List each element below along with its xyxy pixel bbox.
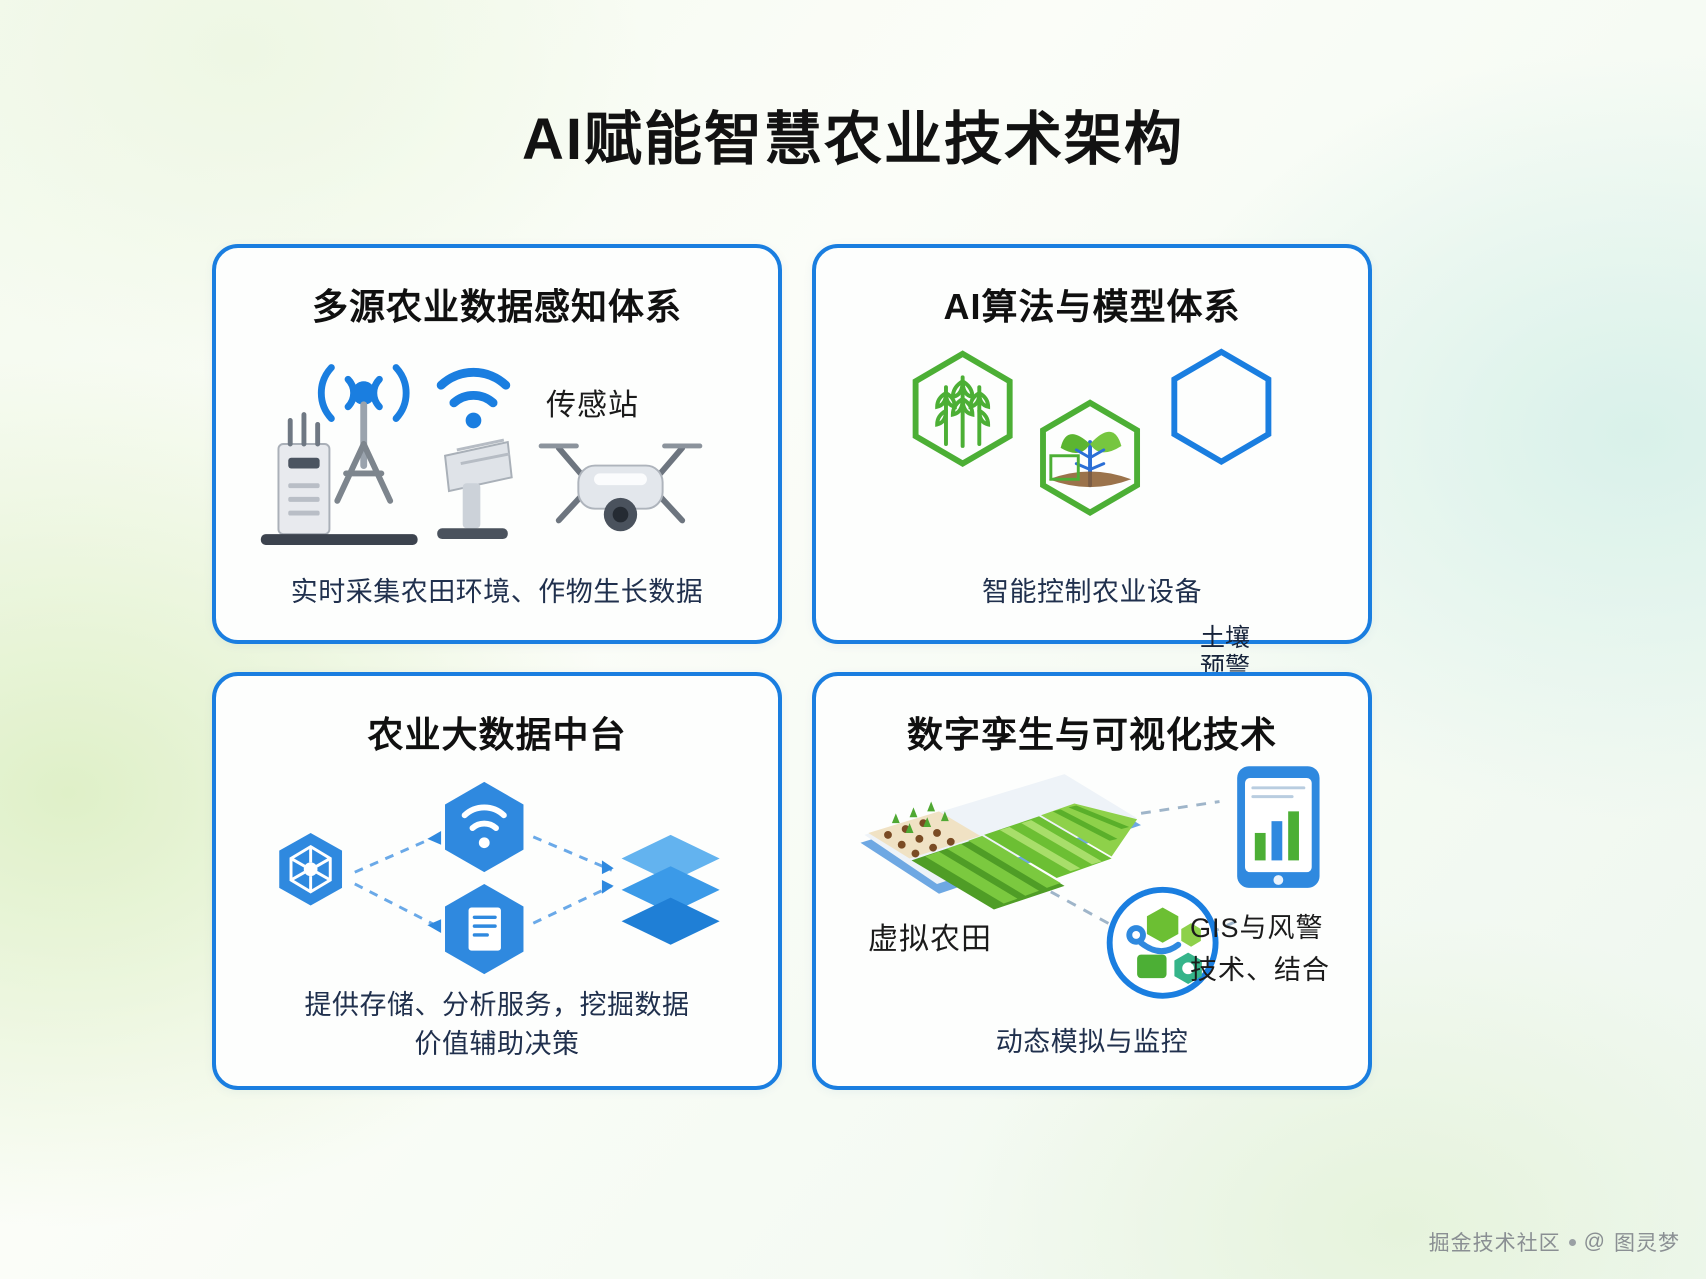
gis-label-line2: 技术、结合 <box>1190 948 1330 987</box>
wheat-hexagon <box>916 354 1010 464</box>
weather-cabinet-icon <box>261 415 418 545</box>
card-ai-algorithm-model[interactable]: AI算法与模型体系 <box>812 244 1372 644</box>
wheat-icon <box>937 377 988 446</box>
tower-legs-icon <box>337 444 390 501</box>
database-stack-icon <box>622 835 720 945</box>
card-title: 农业大数据中台 <box>216 706 778 758</box>
sensor-station-label: 传感站 <box>546 380 639 424</box>
page-title: AI赋能智慧农业技术架构 <box>0 92 1706 176</box>
sprout-hexagon <box>1043 403 1137 513</box>
infographic-stage: AI赋能智慧农业技术架构 多源农业数据感知体系 <box>0 0 1706 1279</box>
arrow-head-icon <box>427 831 613 933</box>
watermark-dot-icon <box>1569 1239 1576 1246</box>
drone-icon <box>541 446 700 531</box>
card-digital-twin-visualization[interactable]: 数字孪生与可视化技术 <box>812 672 1372 1090</box>
watermark-separator: @ <box>1584 1230 1606 1254</box>
document-shield-icon <box>445 884 523 974</box>
caption-line-2: 价值辅助决策 <box>415 1029 580 1059</box>
tower-beacon-icon <box>352 381 376 405</box>
tablet-chart-icon <box>1237 766 1319 888</box>
card-caption: 提供存储、分析服务，挖掘数据 价值辅助决策 <box>216 986 778 1064</box>
virtual-farmland-label: 虚拟农田 <box>868 914 992 958</box>
card-title: AI算法与模型体系 <box>816 278 1368 330</box>
gis-label-line1: GIS与风警 <box>1190 906 1324 945</box>
card-caption: 实时采集农田环境、作物生长数据 <box>216 573 778 612</box>
isometric-farmland-icon <box>861 774 1142 909</box>
card-title: 多源农业数据感知体系 <box>216 278 778 330</box>
wifi-icon <box>441 372 506 403</box>
card-caption: 智能控制农业设备 <box>816 573 1368 612</box>
network-node-icon <box>279 833 342 906</box>
card-agriculture-big-data[interactable]: 农业大数据中台 <box>212 672 782 1090</box>
arrow-connector-icon <box>355 837 612 925</box>
card-title: 数字孪生与可视化技术 <box>816 706 1368 758</box>
sprout-icon <box>1049 432 1131 487</box>
card-caption: 动态模拟与监控 <box>816 1023 1368 1062</box>
watermark: 掘金技术社区 @ 图灵梦 <box>1429 1227 1680 1257</box>
wifi-shield-icon <box>445 782 523 872</box>
watermark-author: 图灵梦 <box>1614 1227 1680 1257</box>
solar-panel-icon <box>437 440 511 539</box>
caption-line-1: 提供存储、分析服务，挖掘数据 <box>305 990 690 1020</box>
card-multi-source-sensing[interactable]: 多源农业数据感知体系 <box>212 244 782 644</box>
soil-alert-line1: 土壤 <box>1200 624 1250 652</box>
watermark-source: 掘金技术社区 <box>1429 1227 1561 1257</box>
signal-tower-icon <box>321 368 406 419</box>
soil-alert-hexagon <box>1174 352 1268 462</box>
